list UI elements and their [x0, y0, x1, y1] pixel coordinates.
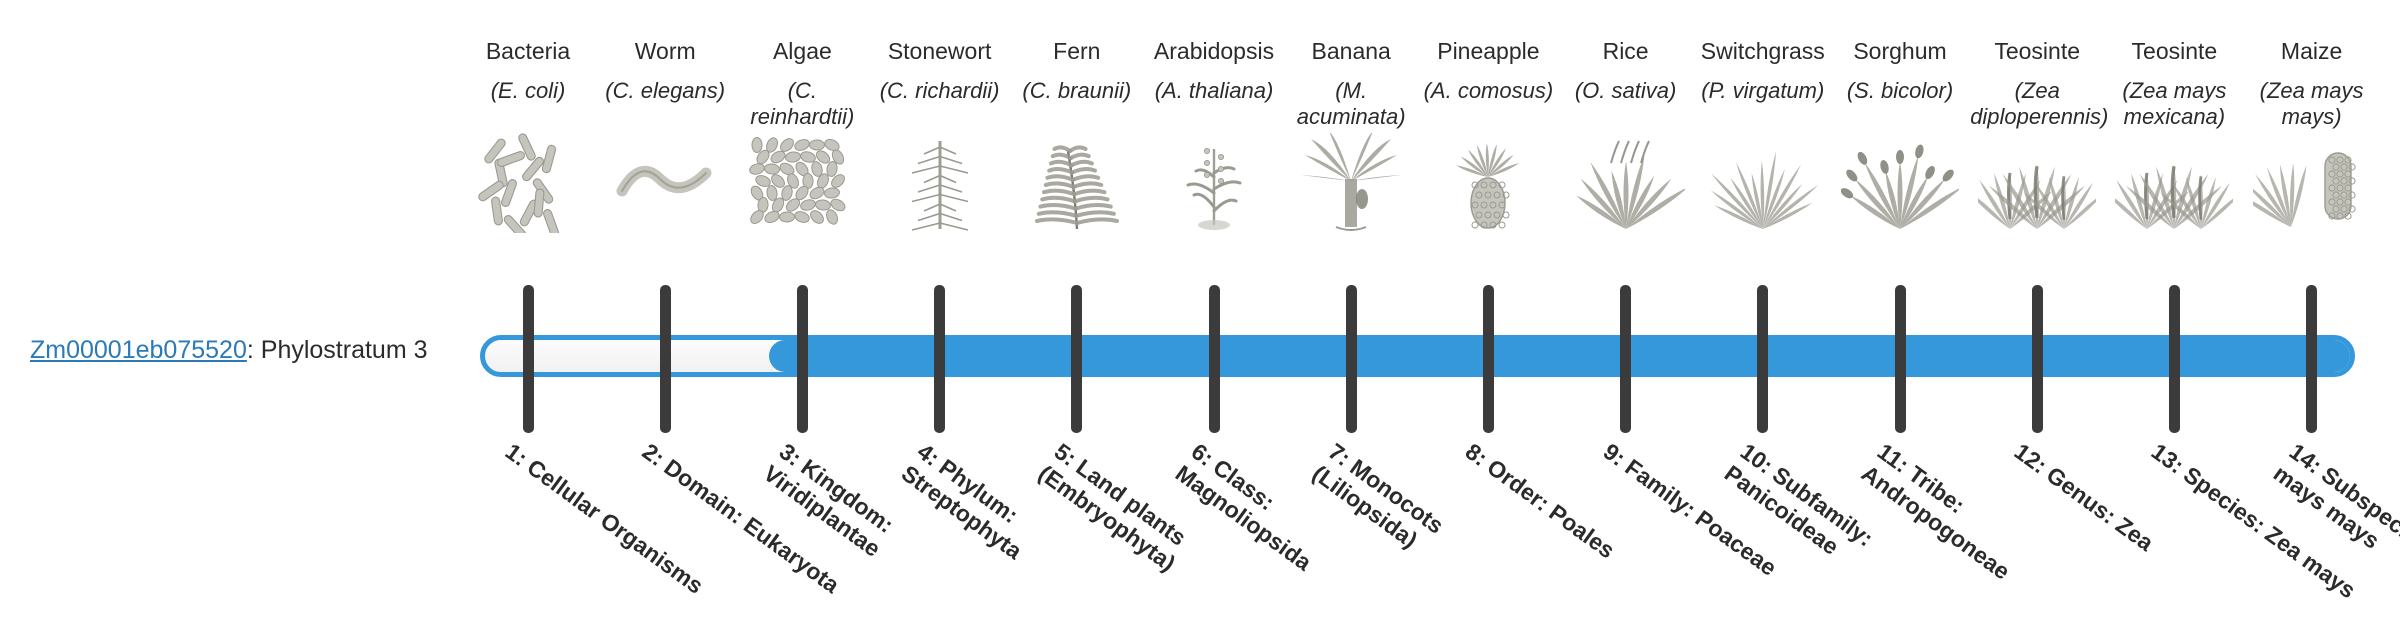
stratum-tick[interactable]	[1071, 285, 1082, 433]
progress-fill	[769, 340, 2350, 372]
species-common-name: Sorghum	[1833, 38, 1967, 64]
sorghum-illustration	[1841, 133, 1959, 233]
stratum-number: 12:	[2010, 438, 2052, 479]
species-column: Rice(O. sativa)	[1559, 38, 1693, 104]
gene-phylostratum-label: Zm00001eb075520: Phylostratum 3	[30, 337, 450, 365]
stratum-tick[interactable]	[1895, 285, 1906, 433]
stratum-tick[interactable]	[1620, 285, 1631, 433]
species-column: Teosinte(Zea diploperennis)	[1970, 38, 2104, 129]
species-latin-name: (C. elegans)	[598, 78, 732, 103]
species-column: Arabidopsis(A. thaliana)	[1147, 38, 1281, 104]
species-latin-name: (Zea mays mexicana)	[2107, 78, 2241, 129]
species-latin-name: (C. braunii)	[1010, 78, 1144, 103]
stratum-tick[interactable]	[1346, 285, 1357, 433]
rice-illustration	[1567, 133, 1685, 233]
worm-illustration	[606, 133, 724, 233]
species-latin-name: (O. sativa)	[1559, 78, 1693, 103]
species-latin-name: (C. reinhardtii)	[735, 78, 869, 129]
species-latin-name: (E. coli)	[461, 78, 595, 103]
species-column: Sorghum(S. bicolor)	[1833, 38, 1967, 104]
fern-illustration	[1018, 133, 1136, 233]
species-common-name: Pineapple	[1421, 38, 1555, 64]
stratum-tick[interactable]	[1757, 285, 1768, 433]
stratum-tick[interactable]	[660, 285, 671, 433]
species-common-name: Teosinte	[1970, 38, 2104, 64]
stratum-tick[interactable]	[2032, 285, 2043, 433]
species-latin-name: (S. bicolor)	[1833, 78, 1967, 103]
stratum-tick[interactable]	[797, 285, 808, 433]
species-common-name: Arabidopsis	[1147, 38, 1281, 64]
species-common-name: Banana	[1284, 38, 1418, 64]
species-common-name: Maize	[2245, 38, 2379, 64]
maize-illustration	[2253, 133, 2371, 233]
species-common-name: Switchgrass	[1696, 38, 1830, 64]
species-common-name: Algae	[735, 38, 869, 64]
switchgrass-illustration	[1704, 133, 1822, 233]
species-column: Bacteria(E. coli)	[461, 38, 595, 104]
stratum-name: Order: Poales	[1483, 454, 1620, 564]
algae-illustration	[743, 133, 861, 233]
species-latin-name: (M. acuminata)	[1284, 78, 1418, 129]
species-latin-name: (C. richardii)	[873, 78, 1007, 103]
gene-label-separator: :	[247, 336, 261, 364]
species-column: Fern(C. braunii)	[1010, 38, 1144, 104]
stonewort-illustration	[881, 133, 999, 233]
gene-phylostratum-value: Phylostratum 3	[261, 336, 428, 364]
species-latin-name: (Zea mays mays)	[2245, 78, 2379, 129]
species-latin-name: (P. virgatum)	[1696, 78, 1830, 103]
species-common-name: Worm	[598, 38, 732, 64]
stratum-tick[interactable]	[2306, 285, 2317, 433]
stratum-number: 13:	[2147, 438, 2189, 479]
species-header-row: Bacteria(E. coli)Worm(C. elegans)Algae(C…	[455, 38, 2375, 298]
species-common-name: Bacteria	[461, 38, 595, 64]
stratum-tick[interactable]	[523, 285, 534, 433]
species-common-name: Fern	[1010, 38, 1144, 64]
species-latin-name: (A. thaliana)	[1147, 78, 1281, 103]
stratum-tick[interactable]	[934, 285, 945, 433]
bacteria-illustration	[469, 133, 587, 233]
species-column: Worm(C. elegans)	[598, 38, 732, 104]
stratum-tick[interactable]	[1209, 285, 1220, 433]
phylostratum-progress-bar[interactable]	[480, 335, 2355, 377]
teosinte-diploperennis-illustration	[1978, 133, 2096, 233]
species-column: Teosinte(Zea mays mexicana)	[2107, 38, 2241, 129]
species-common-name: Stonewort	[873, 38, 1007, 64]
teosinte-mexicana-illustration	[2115, 133, 2233, 233]
species-common-name: Rice	[1559, 38, 1693, 64]
species-latin-name: (Zea diploperennis)	[1970, 78, 2104, 129]
species-column: Pineapple(A. comosus)	[1421, 38, 1555, 104]
stratum-tick[interactable]	[2169, 285, 2180, 433]
species-column: Banana(M. acuminata)	[1284, 38, 1418, 129]
species-common-name: Teosinte	[2107, 38, 2241, 64]
species-column: Switchgrass(P. virgatum)	[1696, 38, 1830, 104]
banana-illustration	[1292, 133, 1410, 233]
pineapple-illustration	[1429, 133, 1547, 233]
arabidopsis-illustration	[1155, 133, 1273, 233]
gene-accession-link[interactable]: Zm00001eb075520	[30, 336, 247, 364]
species-latin-name: (A. comosus)	[1421, 78, 1555, 103]
species-column: Algae(C. reinhardtii)	[735, 38, 869, 129]
progress-track	[480, 335, 2355, 377]
species-column: Stonewort(C. richardii)	[873, 38, 1007, 104]
stratum-name: Genus: Zea	[2042, 461, 2159, 556]
species-column: Maize(Zea mays mays)	[2245, 38, 2379, 129]
stratum-tick[interactable]	[1483, 285, 1494, 433]
